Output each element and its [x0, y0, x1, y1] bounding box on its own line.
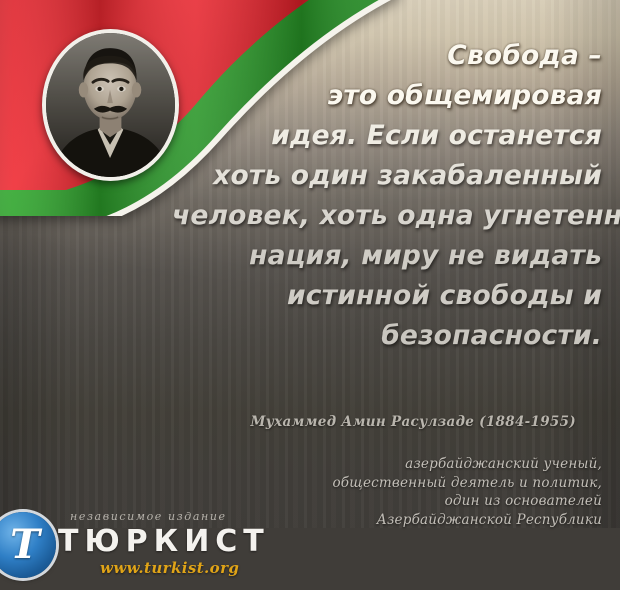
quote-line: нация, миру не видать [172, 236, 602, 276]
quote-line: истинной свободы и [172, 276, 602, 316]
quote-text: Свобода – это общемировая идея. Если ост… [172, 36, 602, 356]
attribution-description-line: азербайджанский ученый, [152, 455, 602, 474]
logo-url[interactable]: www.turkist.org [100, 559, 239, 577]
quote-line: безопасности. [172, 316, 602, 356]
logo-tagline: независимое издание [70, 510, 227, 523]
attribution-name: Мухаммед Амин Расулзаде (1884-1955) [136, 414, 576, 430]
turkist-monogram-icon: T [0, 512, 56, 578]
attribution-description-line: общественный деятель и политик, [152, 474, 602, 493]
quote-line: хоть один закабаленный [172, 156, 602, 196]
quote-line: Свобода – [172, 36, 602, 76]
site-logo[interactable]: T независимое издание ТЮРКИСТ www.turkis… [2, 504, 242, 582]
quote-line: идея. Если останется [172, 116, 602, 156]
quote-line: это общемировая [172, 76, 602, 116]
quote-line: человек, хоть одна угнетенная [172, 196, 602, 236]
logo-wordmark: ТЮРКИСТ [58, 524, 270, 559]
quote-card: Свобода – это общемировая идея. Если ост… [0, 0, 620, 590]
monogram-letter: T [0, 512, 56, 578]
avatar [42, 29, 179, 181]
